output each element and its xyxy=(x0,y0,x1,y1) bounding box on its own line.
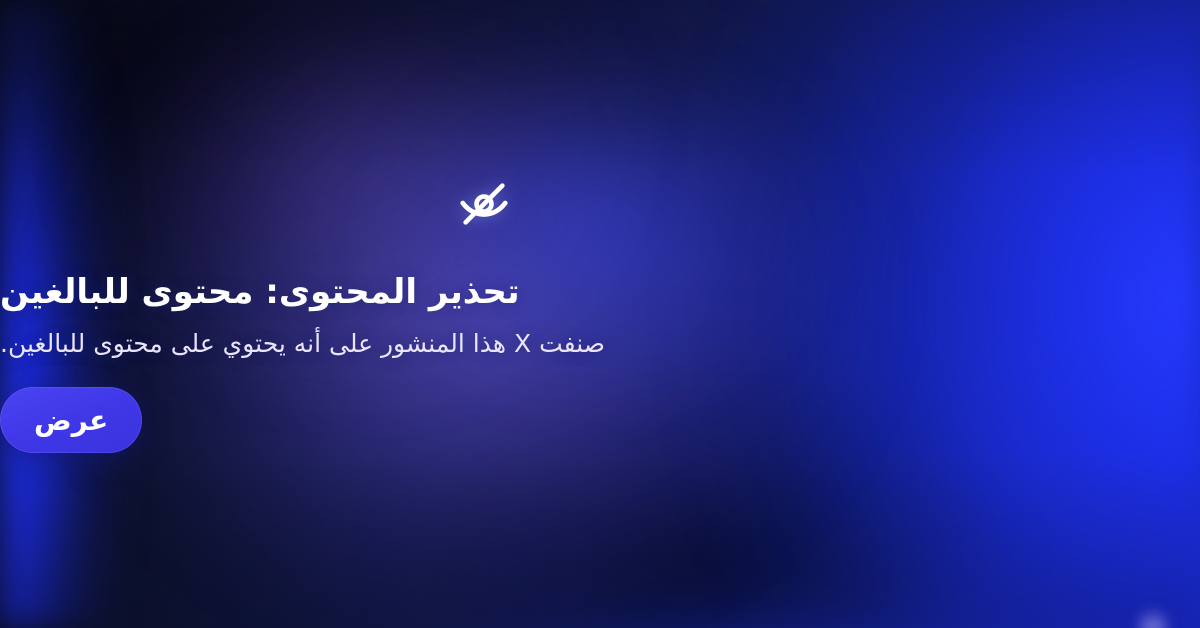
page-title: تحذير المحتوى: محتوى للبالغين xyxy=(0,271,520,314)
warning-content: تحذير المحتوى: محتوى للبالغين صنفت X هذا… xyxy=(0,0,1200,628)
eye-off-icon xyxy=(455,175,513,233)
content-warning-overlay: تحذير المحتوى: محتوى للبالغين صنفت X هذا… xyxy=(0,0,1200,628)
warning-icon-container xyxy=(0,175,968,233)
view-button[interactable]: عرض xyxy=(0,387,142,453)
warning-description: صنفت X هذا المنشور على أنه يحتوي على محت… xyxy=(0,327,605,361)
